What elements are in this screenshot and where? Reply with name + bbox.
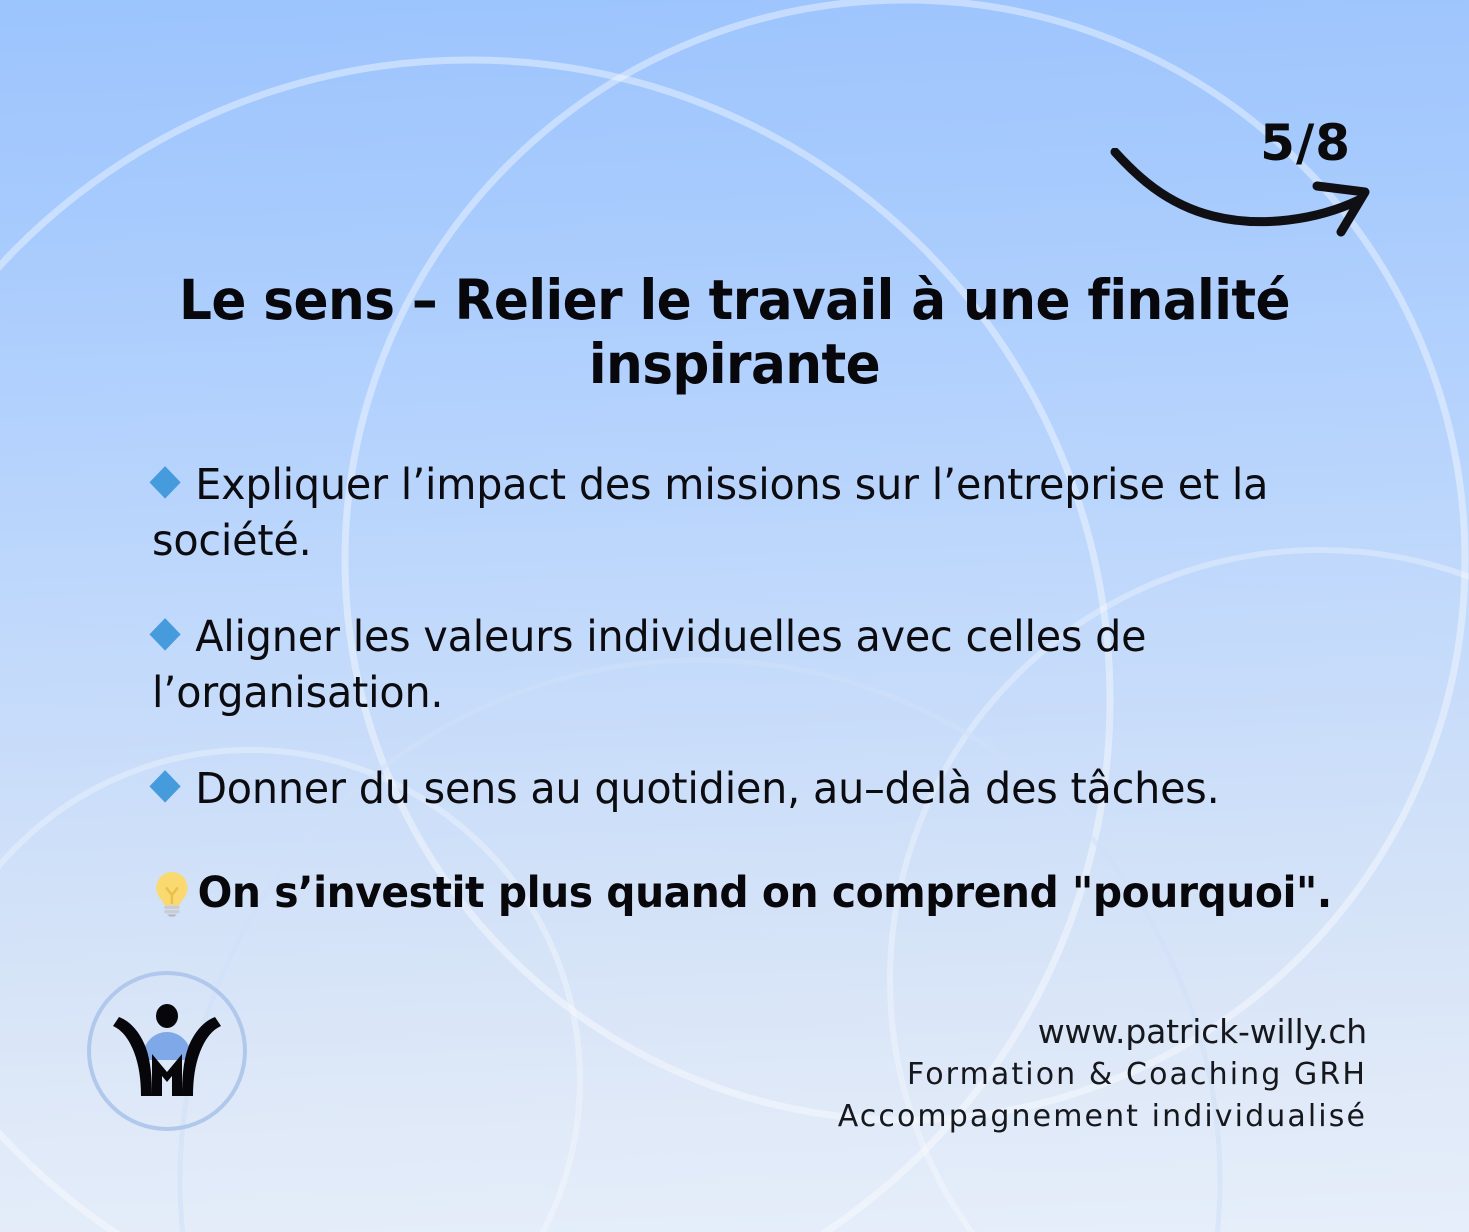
brand-logo bbox=[84, 968, 250, 1134]
key-takeaway: On s’investit plus quand on comprend "po… bbox=[152, 867, 1312, 921]
title-line-2: inspirante bbox=[589, 332, 880, 396]
title-line-1: Le sens – Relier le travail à une finali… bbox=[179, 268, 1290, 332]
slide-title: Le sens – Relier le travail à une finali… bbox=[134, 268, 1334, 397]
diamond-bullet-icon bbox=[149, 466, 180, 499]
footer-tagline-1: Formation & Coaching GRH bbox=[838, 1054, 1367, 1097]
diamond-bullet-icon bbox=[149, 618, 180, 651]
list-item: Donner du sens au quotidien, au–delà des… bbox=[152, 762, 1304, 818]
diamond-bullet-icon bbox=[149, 770, 180, 803]
key-takeaway-text: On s’investit plus quand on comprend "po… bbox=[198, 868, 1332, 918]
footer: www.patrick-willy.ch Formation & Coachin… bbox=[838, 1010, 1367, 1139]
list-item: Aligner les valeurs individuelles avec c… bbox=[152, 610, 1227, 722]
list-item-text: Donner du sens au quotidien, au–delà des… bbox=[195, 764, 1219, 814]
list-item: Expliquer l’impact des missions sur l’en… bbox=[152, 458, 1304, 570]
bullet-list: Expliquer l’impact des missions sur l’en… bbox=[152, 458, 1373, 921]
footer-tagline-2: Accompagnement individualisé bbox=[838, 1096, 1367, 1139]
list-item-text: Aligner les valeurs individuelles avec c… bbox=[152, 612, 1146, 718]
footer-url: www.patrick-willy.ch bbox=[838, 1010, 1367, 1054]
list-item-text: Expliquer l’impact des missions sur l’en… bbox=[152, 460, 1268, 566]
hand-drawn-arrow-icon bbox=[1109, 148, 1409, 243]
carousel-slide: 5/8 Le sens – Relier le travail à une fi… bbox=[0, 0, 1469, 1232]
lightbulb-icon bbox=[152, 869, 192, 917]
